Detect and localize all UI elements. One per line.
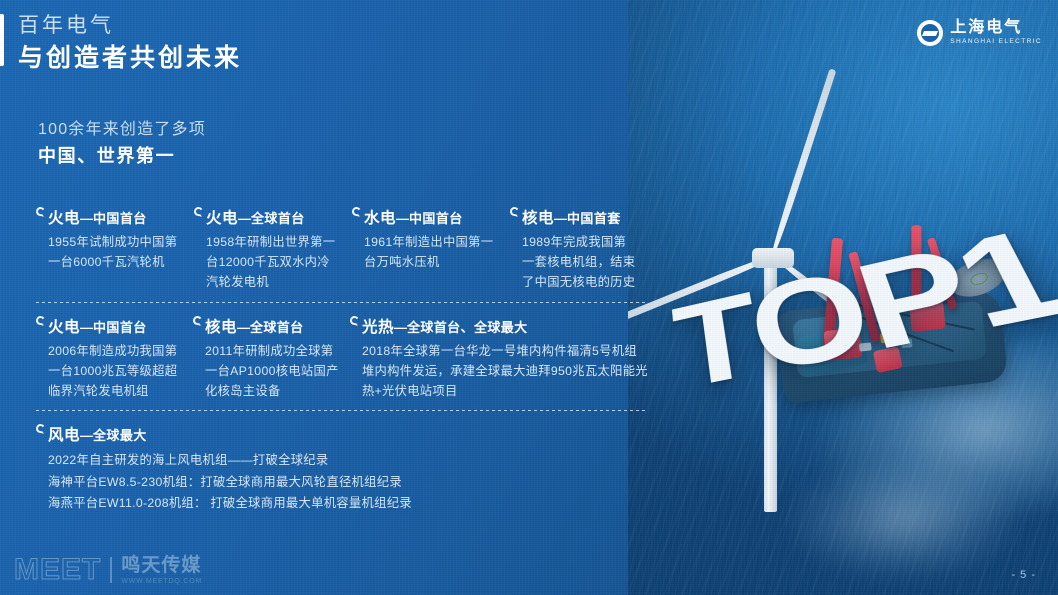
achievement-category: 核电 — [205, 319, 237, 336]
achievement-item: 核电—中国首套 1989年完成我国第一套核电机组，结束了中国无核电的历史 — [510, 206, 648, 293]
slide-content: 百年电气 与创造者共创未来 100余年来创造了多项 中国、世界第一 火电—中国首… — [0, 0, 1058, 595]
achievement-dash: — — [394, 320, 407, 335]
achievement-description-lines: 2022年自主研发的海上风电机组——打破全球纪录 海神平台EW8.5-230机组… — [36, 450, 648, 513]
achievement-heading: 核电—中国首套 — [510, 206, 648, 228]
subtitle-line-1: 100余年来创造了多项 — [38, 118, 206, 143]
slide-canvas: TOP1 百年电气 与创造者共创未来 100余年来创造了多项 中国、世界第一 火… — [0, 0, 1058, 595]
achievement-description: 2011年研制成功全球第一台AP1000核电站国产化核岛主设备 — [193, 342, 350, 402]
achievement-item: 核电—全球首台 2011年研制成功全球第一台AP1000核电站国产化核岛主设备 — [193, 315, 350, 402]
subtitle-line-2: 中国、世界第一 — [38, 143, 206, 170]
achievement-item: 火电—中国首台 1955年试制成功中国第一台6000千瓦汽轮机 — [36, 206, 194, 293]
achievement-dash: — — [80, 428, 93, 443]
achievement-tag: 中国首套 — [567, 211, 621, 226]
watermark-text-group: 鸣天传媒 WWW.MEETDQ.COM — [121, 556, 202, 585]
quote-marker-icon — [35, 424, 46, 435]
logo-name-en: SHANGHAI ELECTRIC — [950, 39, 1042, 46]
quote-marker-icon — [349, 315, 360, 326]
achievement-row: 风电—全球最大 2022年自主研发的海上风电机组——打破全球纪录 海神平台EW8… — [36, 423, 648, 513]
watermark-url: WWW.MEETDQ.COM — [121, 578, 202, 585]
achievements-list: 火电—中国首台 1955年试制成功中国第一台6000千瓦汽轮机 火电—全球首台 … — [36, 206, 648, 514]
achievement-category: 火电 — [48, 319, 80, 336]
achievement-heading: 光热—全球首台、全球最大 — [350, 315, 648, 337]
achievement-tag: 全球首台、全球最大 — [407, 320, 528, 335]
achievement-category: 水电 — [364, 210, 396, 227]
achievement-description: 1989年完成我国第一套核电机组，结束了中国无核电的历史 — [510, 233, 648, 293]
achievement-category: 光热 — [362, 319, 394, 336]
achievement-dash: — — [80, 211, 93, 226]
achievement-item: 火电—中国首台 2006年制造成功我国第一台1000兆瓦等级超超临界汽轮发电机组 — [36, 315, 193, 402]
achievement-heading: 水电—中国首台 — [352, 206, 510, 228]
achievement-heading: 火电—中国首台 — [36, 315, 193, 337]
subtitle-group: 100余年来创造了多项 中国、世界第一 — [38, 118, 206, 170]
quote-marker-icon — [193, 206, 204, 217]
achievement-category: 核电 — [522, 210, 554, 227]
achievement-heading: 火电—全球首台 — [194, 206, 352, 228]
achievement-row: 火电—中国首台 1955年试制成功中国第一台6000千瓦汽轮机 火电—全球首台 … — [36, 206, 648, 303]
quote-marker-icon — [35, 315, 46, 326]
achievement-tag: 中国首台 — [93, 320, 147, 335]
page-number: - 5 - — [1011, 569, 1036, 581]
quote-marker-icon — [509, 206, 520, 217]
achievement-dash: — — [238, 211, 251, 226]
page-title: 与创造者共创未来 — [18, 42, 242, 75]
achievement-item: 火电—全球首台 1958年研制出世界第一台12000千瓦双水内冷汽轮发电机 — [194, 206, 352, 293]
achievement-dash: — — [396, 211, 409, 226]
watermark-name-cn: 鸣天传媒 — [121, 556, 202, 575]
achievement-item: 风电—全球最大 2022年自主研发的海上风电机组——打破全球纪录 海神平台EW8… — [36, 423, 648, 513]
achievement-item: 水电—中国首台 1961年制造出中国第一台万吨水压机 — [352, 206, 510, 293]
logo-text-group: 上海电气 SHANGHAI ELECTRIC — [950, 20, 1042, 46]
achievement-tag: 中国首台 — [409, 211, 463, 226]
quote-marker-icon — [351, 206, 362, 217]
achievement-heading: 火电—中国首台 — [36, 206, 194, 228]
achievement-category: 火电 — [48, 210, 80, 227]
achievement-dash: — — [554, 211, 567, 226]
quote-marker-icon — [35, 206, 46, 217]
achievement-heading: 核电—全球首台 — [193, 315, 350, 337]
achievement-description: 1955年试制成功中国第一台6000千瓦汽轮机 — [36, 233, 194, 273]
watermark-brand: MEET — [14, 555, 101, 585]
achievement-tag: 全球首台 — [251, 211, 305, 226]
shanghai-electric-logo-icon — [917, 20, 943, 46]
achievement-line: 海燕平台EW11.0-208机组： 打破全球商用最大单机容量机组纪录 — [48, 493, 648, 514]
achievement-heading: 风电—全球最大 — [36, 423, 648, 445]
achievement-description: 1961年制造出中国第一台万吨水压机 — [352, 233, 510, 273]
slide-title-group: 百年电气 与创造者共创未来 — [18, 13, 242, 75]
achievement-category: 风电 — [48, 427, 80, 444]
title-small: 百年电气 — [18, 13, 242, 40]
watermark-separator — [110, 557, 112, 583]
achievement-description: 2006年制造成功我国第一台1000兆瓦等级超超临界汽轮发电机组 — [36, 342, 193, 402]
row-divider — [36, 410, 648, 411]
achievement-item: 光热—全球首台、全球最大 2018年全球第一台华龙一号堆内构件福清5号机组堆内构… — [350, 315, 648, 402]
company-logo: 上海电气 SHANGHAI ELECTRIC — [917, 20, 1042, 46]
achievement-tag: 中国首台 — [93, 211, 147, 226]
achievement-line: 2022年自主研发的海上风电机组——打破全球纪录 — [48, 450, 648, 471]
logo-name-cn: 上海电气 — [950, 20, 1042, 36]
achievement-row: 火电—中国首台 2006年制造成功我国第一台1000兆瓦等级超超临界汽轮发电机组… — [36, 315, 648, 412]
achievement-dash: — — [80, 320, 93, 335]
achievement-category: 火电 — [206, 210, 238, 227]
title-accent-bar — [0, 14, 4, 66]
achievement-description: 1958年研制出世界第一台12000千瓦双水内冷汽轮发电机 — [194, 233, 352, 293]
achievement-description: 2018年全球第一台华龙一号堆内构件福清5号机组堆内构件发运，承建全球最大迪拜9… — [350, 342, 648, 402]
row-divider — [36, 302, 648, 303]
achievement-tag: 全球最大 — [93, 428, 147, 443]
achievement-tag: 全球首台 — [250, 320, 304, 335]
achievement-line: 海神平台EW8.5-230机组：打破全球商用最大风轮直径机组纪录 — [48, 472, 648, 493]
achievement-dash: — — [237, 320, 250, 335]
watermark: MEET 鸣天传媒 WWW.MEETDQ.COM — [14, 555, 202, 585]
quote-marker-icon — [192, 315, 203, 326]
